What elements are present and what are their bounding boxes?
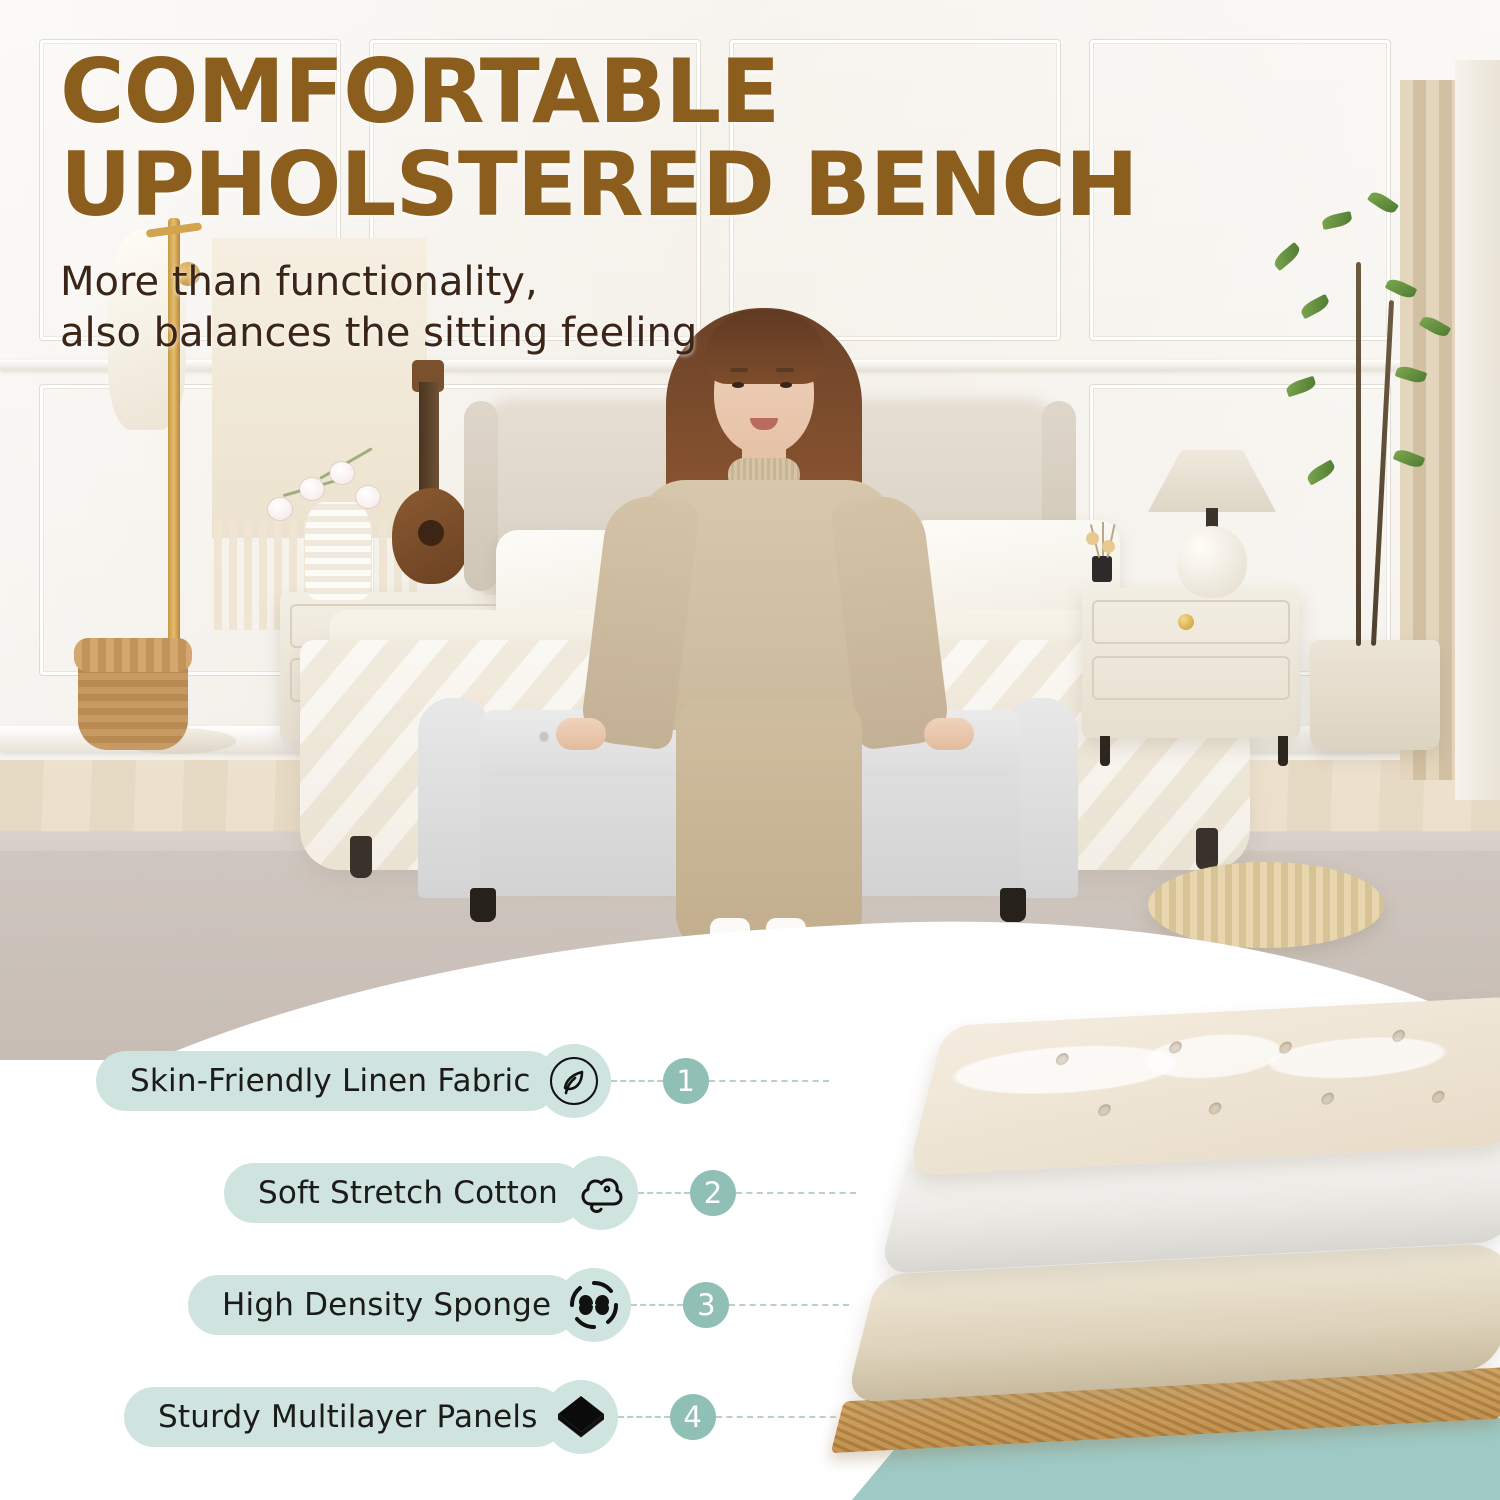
feature-label-4: Sturdy Multilayer Panels [158,1399,538,1435]
feature-number-3: 3 [683,1282,729,1328]
nightstand-leg [1100,736,1110,766]
feature-number-4: 4 [670,1394,716,1440]
eyebrow [776,368,794,372]
straw-pouf [1148,862,1384,948]
page-title-line2: UPHOLSTERED BENCH [60,136,1180,235]
sheer-curtain [1455,60,1500,800]
leaf-icon [537,1044,611,1118]
ceramic-vase [305,502,371,600]
orchid-bloom [268,498,292,520]
pants [676,698,862,954]
ukulele-neck [419,382,439,494]
bench-leg [470,888,496,922]
feature-label-3: High Density Sponge [222,1287,551,1323]
feature-pill-1[interactable]: Skin-Friendly Linen Fabric [96,1051,559,1111]
subtitle-line1: More than functionality, [60,257,1180,308]
feature-row-1[interactable]: Skin-Friendly Linen Fabric 1 [96,1048,829,1114]
connector-line-3 [631,1304,683,1306]
bed-leg [1196,828,1218,870]
reed-diffuser [1092,556,1112,582]
plant-pot [1310,640,1440,750]
connector-line-3b [729,1304,849,1306]
orchid-bloom [330,462,354,484]
connector-line-4b [716,1416,836,1418]
bed-leg [350,836,372,878]
product-marketing-image: COMFORTABLE UPHOLSTERED BENCH More than … [0,0,1500,1500]
eye [732,382,744,388]
plant-trunk [1356,262,1361,646]
feature-number-1: 1 [663,1058,709,1104]
page-title-line1: COMFORTABLE [60,48,1180,136]
feature-label-2: Soft Stretch Cotton [258,1175,558,1211]
nightstand-right [1082,588,1300,738]
feature-pill-3[interactable]: High Density Sponge [188,1275,579,1335]
woven-basket-cuff [74,638,192,672]
nightstand-leg [1278,736,1288,766]
panel-diamond-icon [544,1380,618,1454]
hand-right [924,718,974,750]
eye [780,382,792,388]
feature-row-3[interactable]: High Density Sponge 3 [188,1272,849,1338]
feature-number-2: 2 [690,1170,736,1216]
connector-line-4 [618,1416,670,1418]
feature-row-4[interactable]: Sturdy Multilayer Panels 4 [124,1384,836,1450]
subtitle-line2: also balances the sitting feeling [60,308,1180,359]
layer-linen-fabric [907,994,1500,1175]
connector-line-2b [736,1192,856,1194]
ukulele-soundhole [418,520,444,546]
reed-diffuser-flower [1102,540,1115,553]
feature-pill-4[interactable]: Sturdy Multilayer Panels [124,1387,566,1447]
woman-model [600,300,930,960]
sponge-cells-icon [557,1268,631,1342]
material-layer-stack [870,1010,1500,1500]
table-lamp-base [1177,526,1247,598]
orchid-bloom [300,478,324,500]
headline-block: COMFORTABLE UPHOLSTERED BENCH More than … [60,48,1180,359]
connector-line-2 [638,1192,690,1194]
bench-leg [1000,888,1026,922]
feature-label-1: Skin-Friendly Linen Fabric [130,1063,531,1099]
cotton-cloud-icon [564,1156,638,1230]
feature-row-2[interactable]: Soft Stretch Cotton 2 [224,1160,856,1226]
connector-line-1 [611,1080,663,1082]
orchid-bloom [356,486,380,508]
hand-left [556,718,606,750]
feature-pill-2[interactable]: Soft Stretch Cotton [224,1163,586,1223]
eyebrow [730,368,748,372]
connector-line-1b [709,1080,829,1082]
reed-diffuser-flower [1086,532,1099,545]
feature-section: Skin-Friendly Linen Fabric 1 Soft Stretc… [0,1000,1500,1500]
